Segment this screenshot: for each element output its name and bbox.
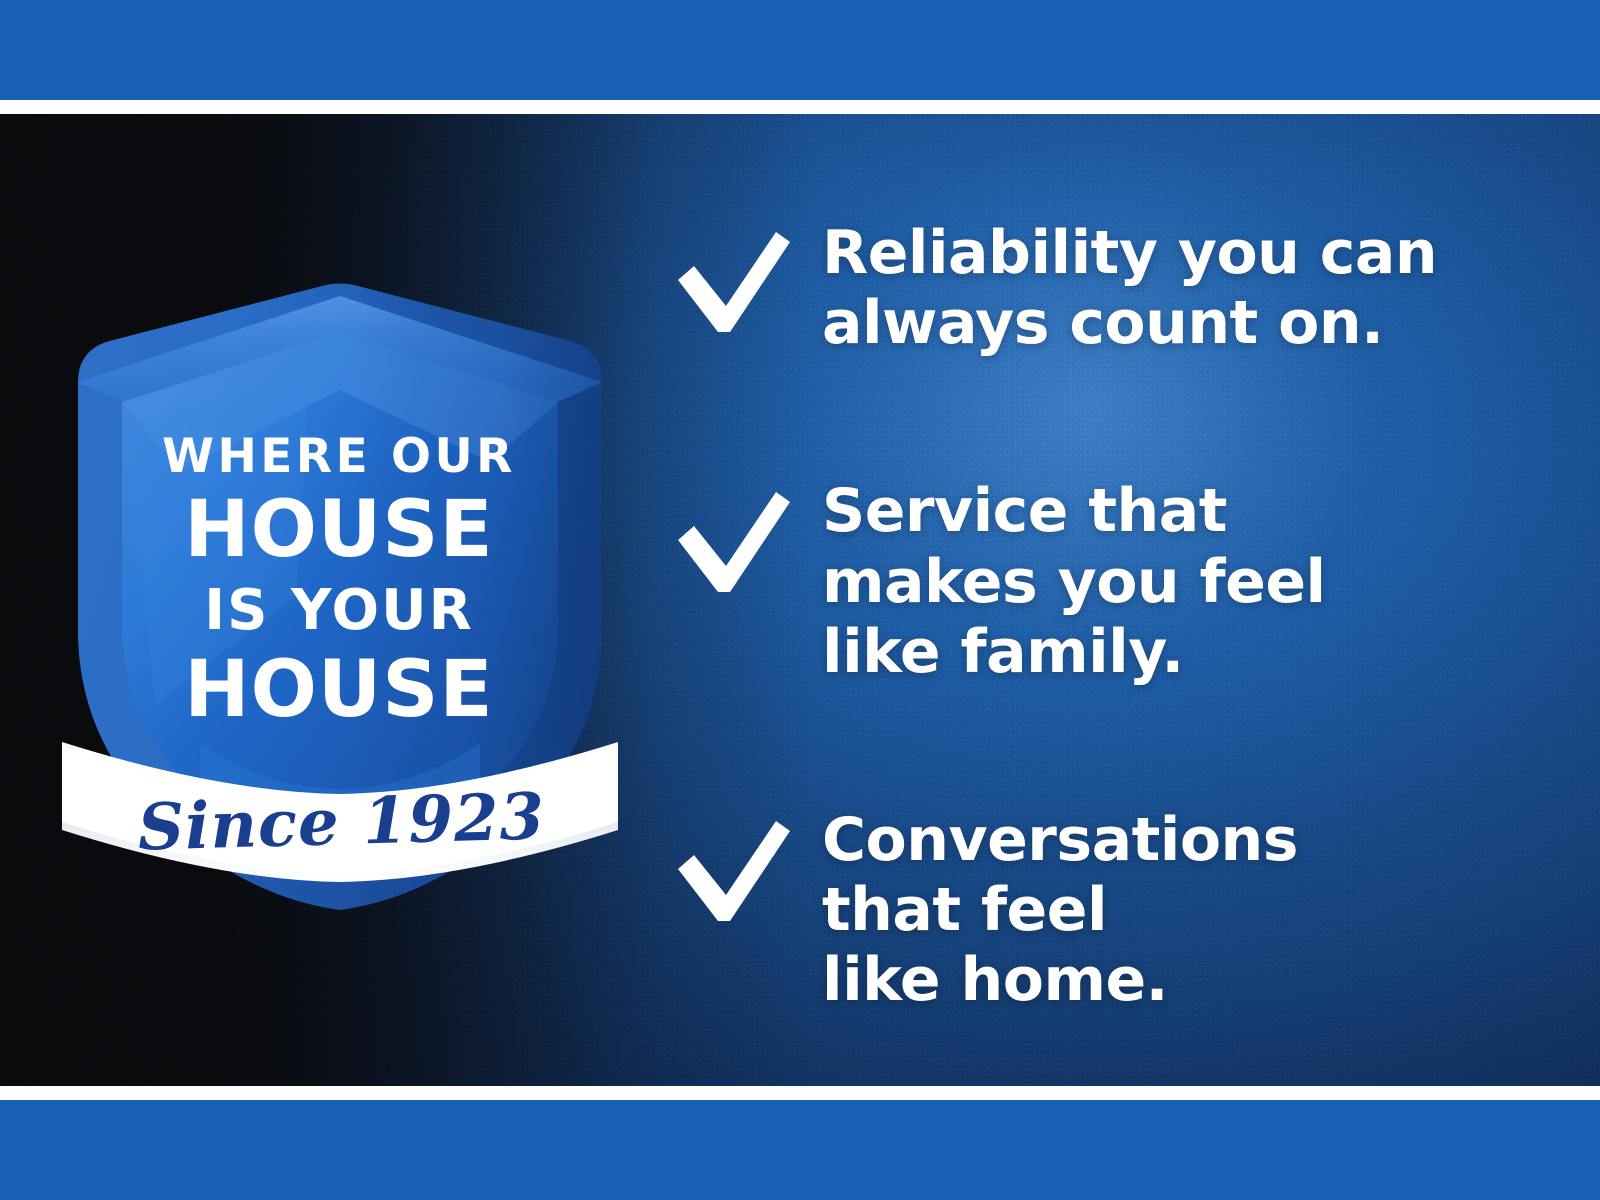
checkmark-icon <box>672 805 822 929</box>
benefit-item: Service that makes you feel like family. <box>672 476 1552 687</box>
emblem-line-2: HOUSE <box>184 485 493 575</box>
benefit-item: Reliability you can always count on. <box>672 218 1552 358</box>
checkmark-icon <box>672 476 822 600</box>
main-stage: WHERE OUR HOUSE IS YOUR HOUSE Since 1923 <box>0 114 1600 1086</box>
emblem-line-4: HOUSE <box>184 645 493 735</box>
checkmark-icon <box>672 218 822 340</box>
emblem-line-1: WHERE OUR <box>162 429 516 484</box>
emblem-lettering: WHERE OUR HOUSE IS YOUR HOUSE <box>162 429 516 735</box>
top-white-divider <box>0 100 1600 114</box>
promotional-graphic: WHERE OUR HOUSE IS YOUR HOUSE Since 1923 <box>0 0 1600 1200</box>
emblem-line-3: IS YOUR <box>204 578 473 643</box>
bottom-brand-bar <box>0 1100 1600 1200</box>
shield-emblem: WHERE OUR HOUSE IS YOUR HOUSE Since 1923 <box>60 274 620 914</box>
benefits-list: Reliability you can always count on. Ser… <box>672 218 1552 1016</box>
benefit-item: Conversations that feel like home. <box>672 805 1552 1016</box>
top-brand-bar <box>0 0 1600 100</box>
benefit-text: Reliability you can always count on. <box>822 218 1437 358</box>
bottom-white-divider <box>0 1086 1600 1100</box>
banner-text: Since 1923 <box>137 779 546 865</box>
benefit-text: Service that makes you feel like family. <box>822 476 1326 687</box>
benefit-text: Conversations that feel like home. <box>822 805 1298 1016</box>
